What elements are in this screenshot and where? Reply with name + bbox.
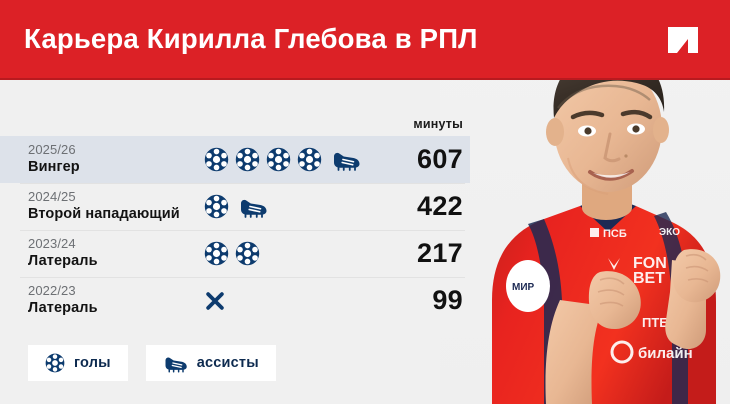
contribution-icons bbox=[204, 183, 268, 230]
contribution-icons bbox=[204, 277, 226, 324]
football-icon bbox=[204, 194, 229, 219]
boot-icon bbox=[163, 353, 188, 373]
table-row[interactable]: 2024/25 Второй нападающий 422 bbox=[0, 183, 470, 230]
minutes-value: 607 bbox=[333, 136, 463, 183]
position-label: Вингер bbox=[28, 158, 80, 176]
position-label: Латераль bbox=[28, 252, 98, 270]
header-banner: Карьера Кирилла Глебова в РПЛ bbox=[0, 0, 730, 80]
season-label: 2022/23 bbox=[28, 283, 98, 298]
contribution-icons bbox=[204, 230, 260, 277]
career-table: 2025/26 Вингер 607 2024/25 Второй напада… bbox=[0, 136, 470, 324]
svg-text:МИР: МИР bbox=[512, 282, 535, 293]
table-row[interactable]: 2023/24 Латераль 217 bbox=[0, 230, 470, 277]
minutes-value: 217 bbox=[333, 230, 463, 277]
season-label: 2024/25 bbox=[28, 189, 180, 204]
legend-item-assists[interactable]: ассисты bbox=[146, 345, 276, 381]
svg-text:ПСБ: ПСБ bbox=[603, 228, 627, 240]
minutes-value: 99 bbox=[333, 277, 463, 324]
boot-icon bbox=[238, 194, 268, 219]
row-label: 2024/25 Второй нападающий bbox=[28, 189, 180, 223]
season-label: 2023/24 bbox=[28, 236, 98, 251]
row-label: 2025/26 Вингер bbox=[28, 142, 80, 176]
svg-text:BET: BET bbox=[633, 270, 665, 287]
season-label: 2025/26 bbox=[28, 142, 80, 157]
row-label: 2022/23 Латераль bbox=[28, 283, 98, 317]
football-icon bbox=[204, 147, 229, 172]
position-label: Второй нападающий bbox=[28, 205, 180, 223]
legend-label-goals: голы bbox=[74, 355, 111, 371]
football-icon bbox=[204, 241, 229, 266]
football-icon bbox=[235, 241, 260, 266]
legend-item-goals[interactable]: голы bbox=[28, 345, 128, 381]
football-icon bbox=[45, 353, 65, 373]
minutes-value: 422 bbox=[333, 183, 463, 230]
x-mark-icon bbox=[204, 290, 226, 312]
legend-label-assists: ассисты bbox=[197, 355, 259, 371]
page-title: Карьера Кирилла Глебова в РПЛ bbox=[24, 23, 478, 55]
svg-text:ЭКО: ЭКО bbox=[659, 227, 680, 238]
football-icon bbox=[266, 147, 291, 172]
legend: голы ассисты bbox=[28, 345, 276, 381]
row-label: 2023/24 Латераль bbox=[28, 236, 98, 270]
minutes-column-header: минуты bbox=[413, 117, 463, 131]
football-icon bbox=[235, 147, 260, 172]
football-icon bbox=[297, 147, 322, 172]
sport-express-logo-icon bbox=[660, 17, 706, 63]
position-label: Латераль bbox=[28, 299, 98, 317]
table-row[interactable]: 2022/23 Латераль 99 bbox=[0, 277, 470, 324]
infographic-card: ПСБ ЭКО FON BET ПТЕКА билайн МИР bbox=[0, 0, 730, 404]
table-row[interactable]: 2025/26 Вингер 607 bbox=[0, 136, 470, 183]
